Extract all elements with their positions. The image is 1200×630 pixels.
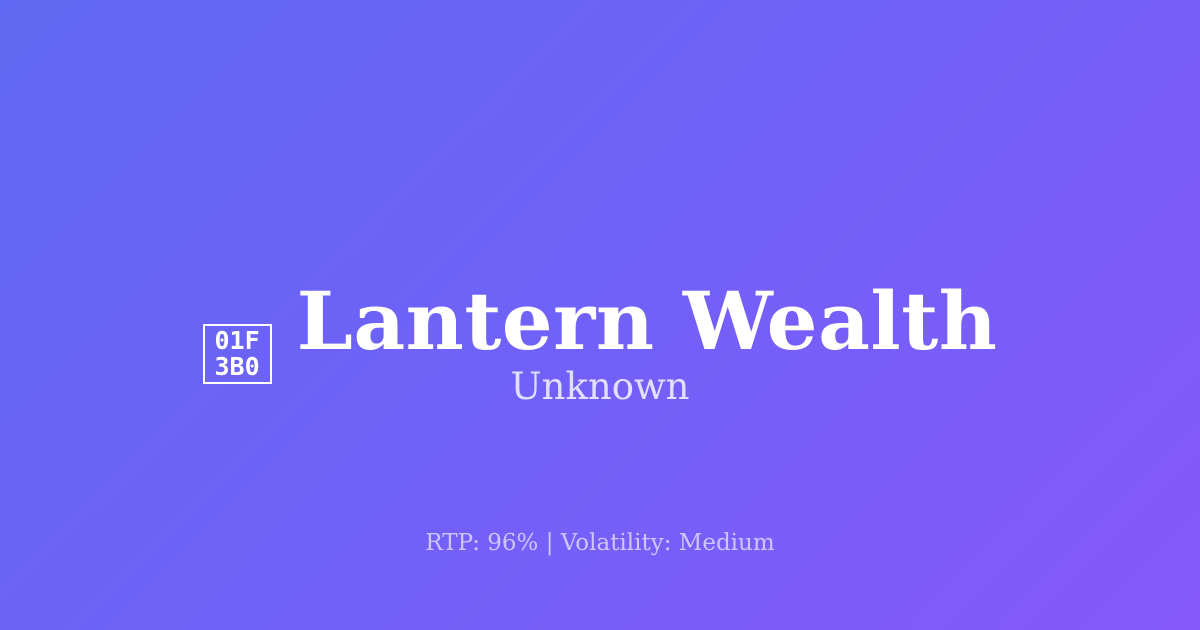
game-stats-line: RTP: 96% | Volatility: Medium <box>0 528 1200 558</box>
title-row: 01F 3B0 Lantern Wealth <box>0 227 1200 319</box>
game-preview-card: 01F 3B0 Lantern Wealth Unknown RTP: 96% … <box>0 0 1200 630</box>
page-title: Lantern Wealth <box>297 281 998 361</box>
glyph-codepoint-upper: 01F <box>215 328 260 354</box>
subtitle: Unknown <box>0 365 1200 409</box>
